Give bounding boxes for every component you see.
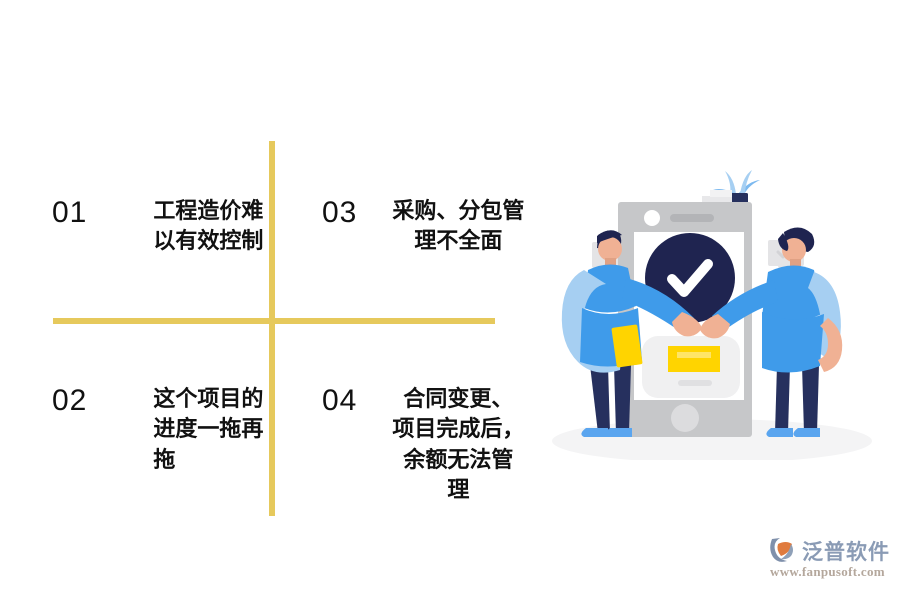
screen-card-stripe bbox=[677, 352, 711, 358]
pain-point-line: 拖 bbox=[153, 448, 175, 473]
pain-point-number-04: 04 bbox=[322, 385, 357, 417]
screen-yellow-card bbox=[668, 346, 720, 372]
pain-point-line: 这个项目的 bbox=[153, 387, 263, 412]
screen-card-caption bbox=[678, 380, 712, 386]
pain-point-line: 工程造价难 bbox=[153, 199, 263, 224]
pain-point-number-03: 03 bbox=[322, 197, 357, 229]
pain-point-text-04: 合同变更、 项目完成后， 余额无法管 理 bbox=[379, 385, 537, 506]
pain-point-item-02: 02 这个项目的 进度一拖再 拖 bbox=[52, 385, 301, 476]
watermark-url: www.fanpusoft.com bbox=[770, 564, 885, 580]
horizontal-divider bbox=[53, 318, 495, 324]
watermark: 泛普软件 www.fanpusoft.com bbox=[768, 534, 892, 586]
pain-point-item-01: 01 工程造价难 以有效控制 bbox=[52, 197, 301, 258]
pain-point-line: 理 bbox=[447, 478, 469, 503]
phone-camera bbox=[644, 210, 660, 226]
handshake-deal-illustration bbox=[540, 160, 885, 460]
pain-point-line: 进度一拖再 bbox=[153, 417, 263, 442]
pain-point-line: 合同变更、 bbox=[403, 387, 513, 412]
pain-point-text-02: 这个项目的 进度一拖再 拖 bbox=[153, 385, 301, 476]
pain-point-line: 理不全面 bbox=[414, 229, 502, 254]
pain-point-line: 采购、分包管 bbox=[392, 199, 524, 224]
phone-top-step-2 bbox=[710, 190, 732, 197]
watermark-brand: 泛普软件 bbox=[802, 536, 890, 566]
pain-point-line: 以有效控制 bbox=[153, 229, 263, 254]
yellow-card-held bbox=[611, 324, 642, 367]
pain-point-item-03: 03 采购、分包管 理不全面 bbox=[322, 197, 537, 258]
pain-point-line: 项目完成后， bbox=[392, 417, 524, 442]
pain-point-number-01: 01 bbox=[52, 197, 87, 229]
pain-point-text-03: 采购、分包管 理不全面 bbox=[379, 197, 537, 258]
fanpu-logo-icon bbox=[768, 536, 798, 562]
pain-point-line: 余额无法管 bbox=[403, 448, 513, 473]
pain-point-item-04: 04 合同变更、 项目完成后， 余额无法管 理 bbox=[322, 385, 537, 506]
pain-point-text-01: 工程造价难 以有效控制 bbox=[153, 197, 301, 258]
infographic-page: 01 工程造价难 以有效控制 02 这个项目的 进度一拖再 拖 03 采购、分包… bbox=[0, 0, 900, 600]
phone-home-button bbox=[671, 404, 699, 432]
phone-speaker bbox=[670, 214, 714, 222]
pain-point-number-02: 02 bbox=[52, 385, 87, 417]
